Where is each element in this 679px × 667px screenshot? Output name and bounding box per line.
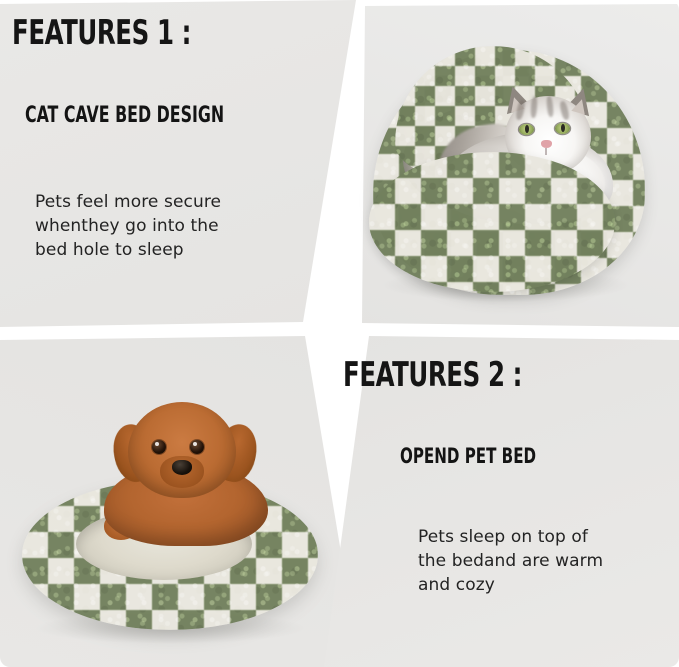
dog-nose bbox=[172, 460, 192, 475]
features-1-subtitle: CAT CAVE BED DESIGN bbox=[25, 105, 224, 127]
cat-nose bbox=[541, 140, 552, 148]
rim-fuzz-texture bbox=[369, 152, 615, 292]
dog-photo-alt: Apricot toy poodle puppy lying on top of… bbox=[10, 400, 11, 401]
cat-pupil-right bbox=[561, 124, 565, 132]
infographic-canvas: FEATURES 1 : CAT CAVE BED DESIGN Pets fe… bbox=[0, 0, 679, 667]
dog-eye-highlight-left bbox=[155, 442, 159, 446]
features-2-body: Pets sleep on top of the bedand are warm… bbox=[418, 525, 648, 597]
poodle-puppy bbox=[98, 402, 270, 552]
open-bed-photo: Apricot toy poodle puppy lying on top of… bbox=[10, 400, 330, 650]
dog-eye-left bbox=[152, 440, 166, 454]
dog-eye-right bbox=[190, 440, 204, 454]
cat-pupil-left bbox=[525, 125, 529, 133]
cave-bed-front-rim bbox=[369, 152, 615, 292]
features-1-body: Pets feel more secure whenthey go into t… bbox=[35, 190, 285, 262]
cat-photo-alt: Gray and white long-haired cat resting i… bbox=[355, 40, 356, 41]
features-1-title: FEATURES 1 : bbox=[12, 16, 191, 50]
features-2-subtitle: OPEND PET BED bbox=[400, 446, 536, 467]
dog-eye-highlight-right bbox=[193, 442, 197, 446]
cat-cave-photo: Gray and white long-haired cat resting i… bbox=[355, 40, 665, 305]
features-2-title: FEATURES 2 : bbox=[343, 358, 522, 392]
